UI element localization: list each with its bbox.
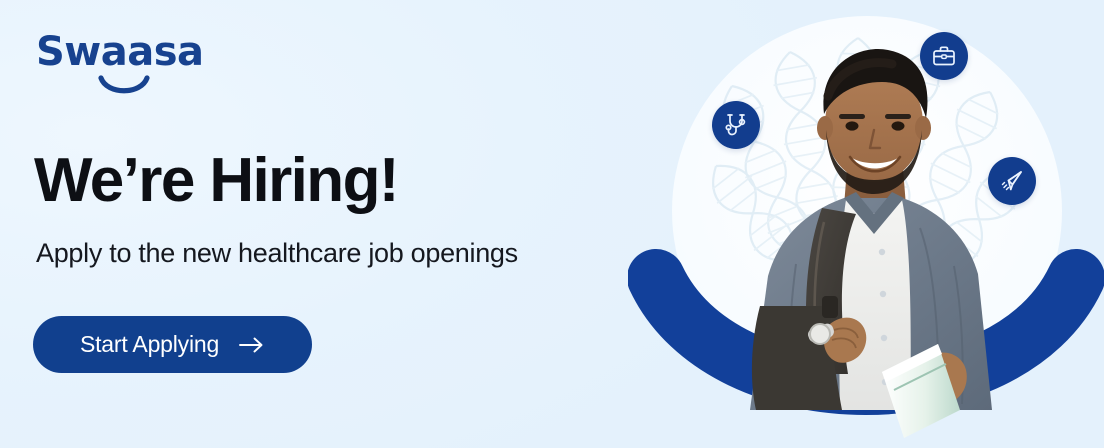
brand-logo[interactable]: Swaasa: [36, 32, 246, 94]
briefcase-icon: [931, 43, 957, 69]
arrow-right-icon: [239, 336, 265, 354]
badge-stethoscope[interactable]: [712, 101, 760, 149]
badge-briefcase[interactable]: [920, 32, 968, 80]
brand-logo-text: Swaasa: [36, 32, 246, 72]
page-subtitle: Apply to the new healthcare job openings: [36, 238, 518, 269]
badge-paper-plane[interactable]: [988, 157, 1036, 205]
smile-arc-icon: [98, 74, 150, 100]
page-title: We’re Hiring!: [34, 148, 398, 213]
start-applying-button[interactable]: Start Applying: [33, 316, 312, 373]
stethoscope-icon: [723, 112, 749, 138]
paper-plane-icon: [999, 168, 1025, 194]
start-applying-label: Start Applying: [80, 331, 219, 358]
hero-artwork: [628, 0, 1104, 448]
hiring-banner: Swaasa We’re Hiring! Apply to the new he…: [0, 0, 1104, 448]
person-photo: [706, 38, 1036, 448]
